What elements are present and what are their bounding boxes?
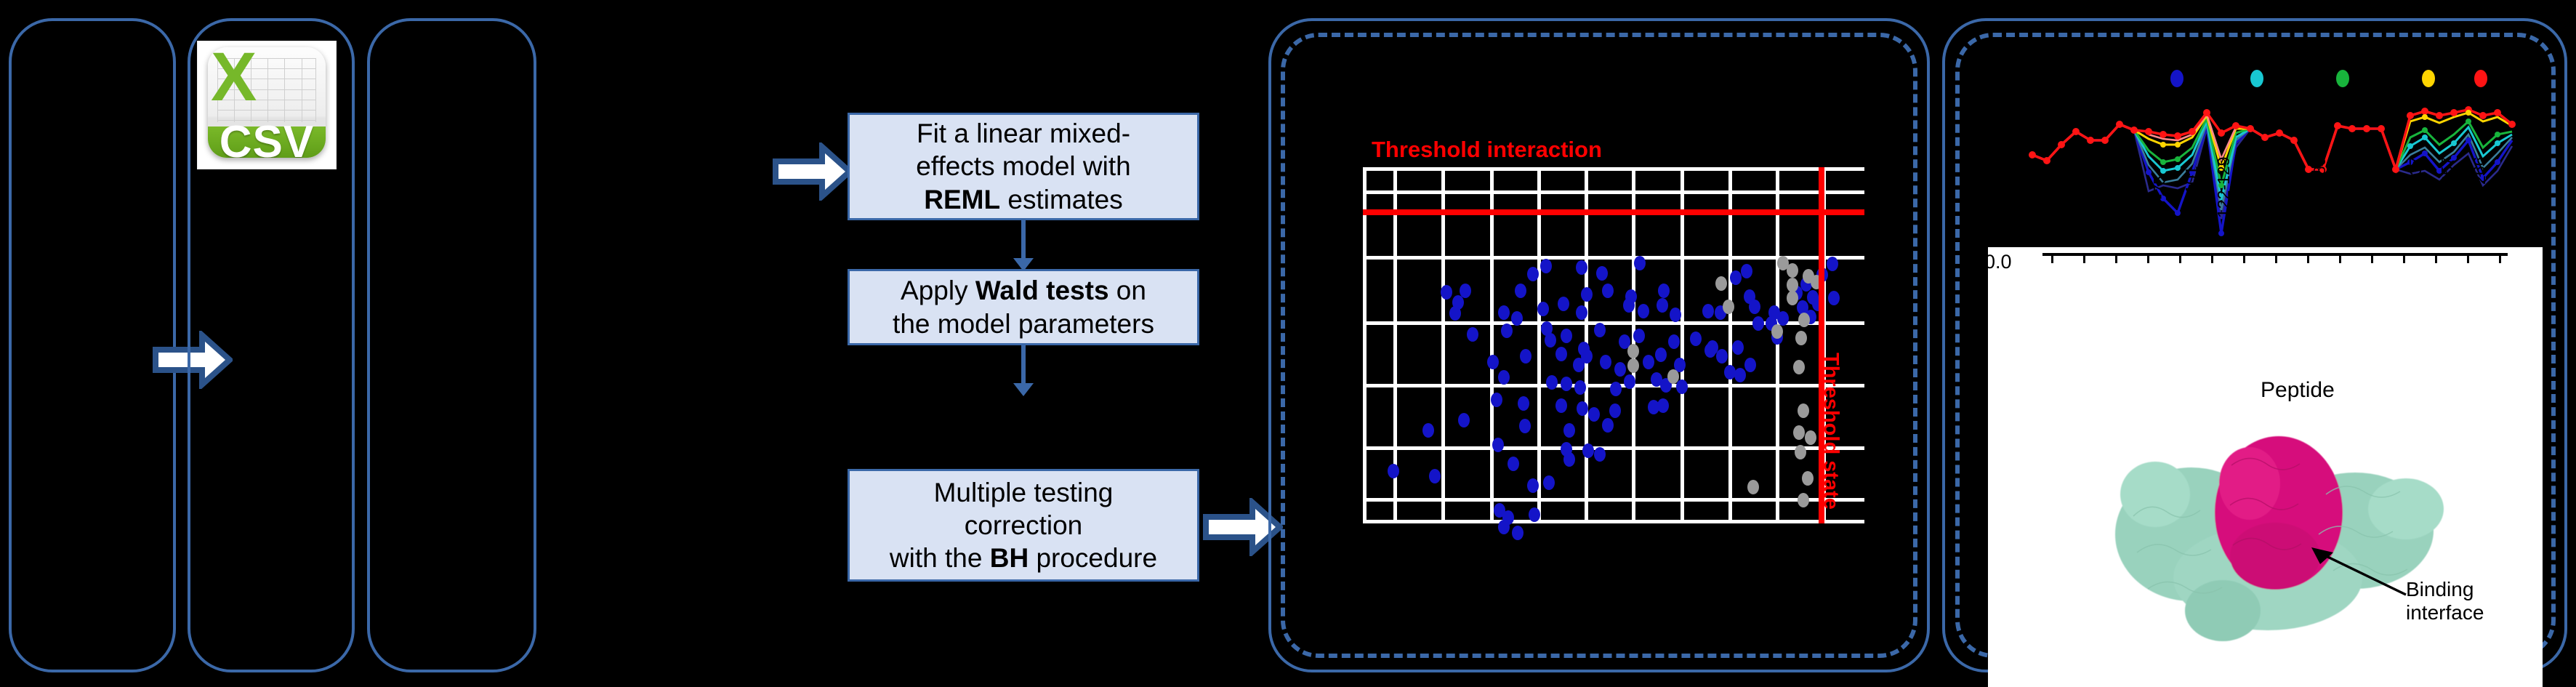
flow-arrow-2	[773, 142, 853, 201]
peptide-label: 167-180	[2310, 157, 2330, 218]
excel-x-logo: X	[211, 47, 258, 96]
step-bh-box[interactable]: Multiple testing correction with the BH …	[848, 469, 1199, 582]
step-reml-text: Fit a linear mixed- effects model with R…	[916, 117, 1130, 215]
peptide-label: 28-44	[2086, 175, 2106, 218]
volcano-scatter-plot: Threshold interaction	[1363, 167, 1864, 523]
peptide-axis-title: Peptide	[2261, 378, 2335, 403]
threshold-interaction-line	[1363, 209, 1864, 215]
peptide-label: 67-75	[2150, 175, 2170, 218]
csv-format-label: CSV	[220, 116, 314, 158]
binding-interface-annotation: Binding interface	[2406, 578, 2484, 624]
binding-interface-line1: Binding	[2406, 578, 2484, 601]
peptide-label: 1-15	[2054, 185, 2074, 218]
peptide-label: 200-214	[2374, 157, 2394, 218]
step-reml-box[interactable]: Fit a linear mixed- effects model with R…	[848, 113, 1199, 220]
statistical-analysis-panel	[367, 18, 536, 672]
csv-format-band: CSV	[208, 126, 326, 158]
data-collection-panel	[9, 18, 176, 672]
peptide-label: 158-166	[2278, 157, 2298, 218]
peptide-label: 241-257	[2438, 157, 2458, 218]
peptide-label: 135-144	[2246, 157, 2266, 218]
connector-wald-bh	[1021, 345, 1026, 385]
connector-wald-bh-tip	[1013, 383, 1034, 396]
binding-interface-line2: interface	[2406, 601, 2484, 624]
peptide-label: 63-73	[2118, 175, 2138, 218]
connector-reml-wald	[1021, 220, 1026, 260]
csv-file-icon: X CSV	[208, 47, 326, 158]
step-wald-text: Apply Wald tests on the model parameters	[893, 274, 1154, 340]
peptide-label: 81-101	[2182, 166, 2202, 218]
threshold-interaction-label: Threshold interaction	[1372, 137, 1602, 163]
step-wald-box[interactable]: Apply Wald tests on the model parameters	[848, 269, 1199, 345]
peptide-label: 218-237	[2406, 157, 2426, 218]
protein-structure-figure	[2093, 407, 2457, 647]
peptide-label: 122-129	[2214, 157, 2234, 218]
peptide-label: 277-284	[2502, 157, 2521, 218]
csv-icon-backdrop: X CSV	[198, 41, 336, 169]
peptide-label: 184-199	[2342, 157, 2362, 218]
y-axis-tick-label: 0.0	[1984, 251, 2012, 273]
peptide-label: 258-266	[2470, 157, 2490, 218]
threshold-state-label: Threshold state	[1819, 353, 1843, 510]
step-bh-text: Multiple testing correction with the BH …	[890, 476, 1157, 574]
